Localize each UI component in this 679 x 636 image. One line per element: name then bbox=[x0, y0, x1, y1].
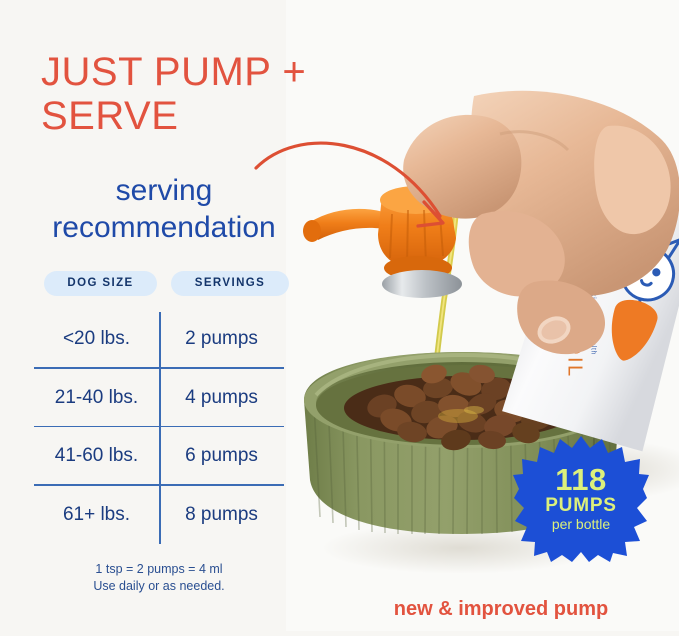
cell-dog-size: 41-60 lbs. bbox=[34, 445, 159, 467]
cell-servings: 6 pumps bbox=[159, 445, 284, 467]
column-header-servings: SERVINGS bbox=[171, 271, 289, 296]
table-row: 41-60 lbs. 6 pumps bbox=[34, 427, 284, 486]
cell-servings: 8 pumps bbox=[159, 504, 284, 526]
table-row: 61+ lbs. 8 pumps bbox=[34, 486, 284, 545]
pumps-per-bottle-badge: 118 PUMPS per bottle bbox=[513, 434, 649, 562]
cell-servings: 2 pumps bbox=[159, 328, 284, 350]
serving-recommendation-heading: serving recommendation bbox=[14, 172, 314, 246]
table-row: 21-40 lbs. 4 pumps bbox=[34, 369, 284, 428]
infographic-canvas: OMEGA OIL Promotes skin & coat health bbox=[0, 0, 679, 631]
cell-dog-size: 61+ lbs. bbox=[34, 504, 159, 526]
serving-table: <20 lbs. 2 pumps 21-40 lbs. 4 pumps 41-6… bbox=[34, 310, 284, 545]
cell-dog-size: 21-40 lbs. bbox=[34, 387, 159, 409]
table-row: <20 lbs. 2 pumps bbox=[34, 310, 284, 369]
starburst-icon bbox=[513, 434, 649, 562]
column-header-dog-size: DOG SIZE bbox=[44, 271, 157, 296]
dosage-footnote: 1 tsp = 2 pumps = 4 ml Use daily or as n… bbox=[34, 561, 284, 595]
table-header-row: DOG SIZE SERVINGS bbox=[44, 271, 294, 296]
cell-servings: 4 pumps bbox=[159, 387, 284, 409]
bottom-caption: new & improved pump bbox=[366, 598, 636, 621]
cell-dog-size: <20 lbs. bbox=[34, 328, 159, 350]
